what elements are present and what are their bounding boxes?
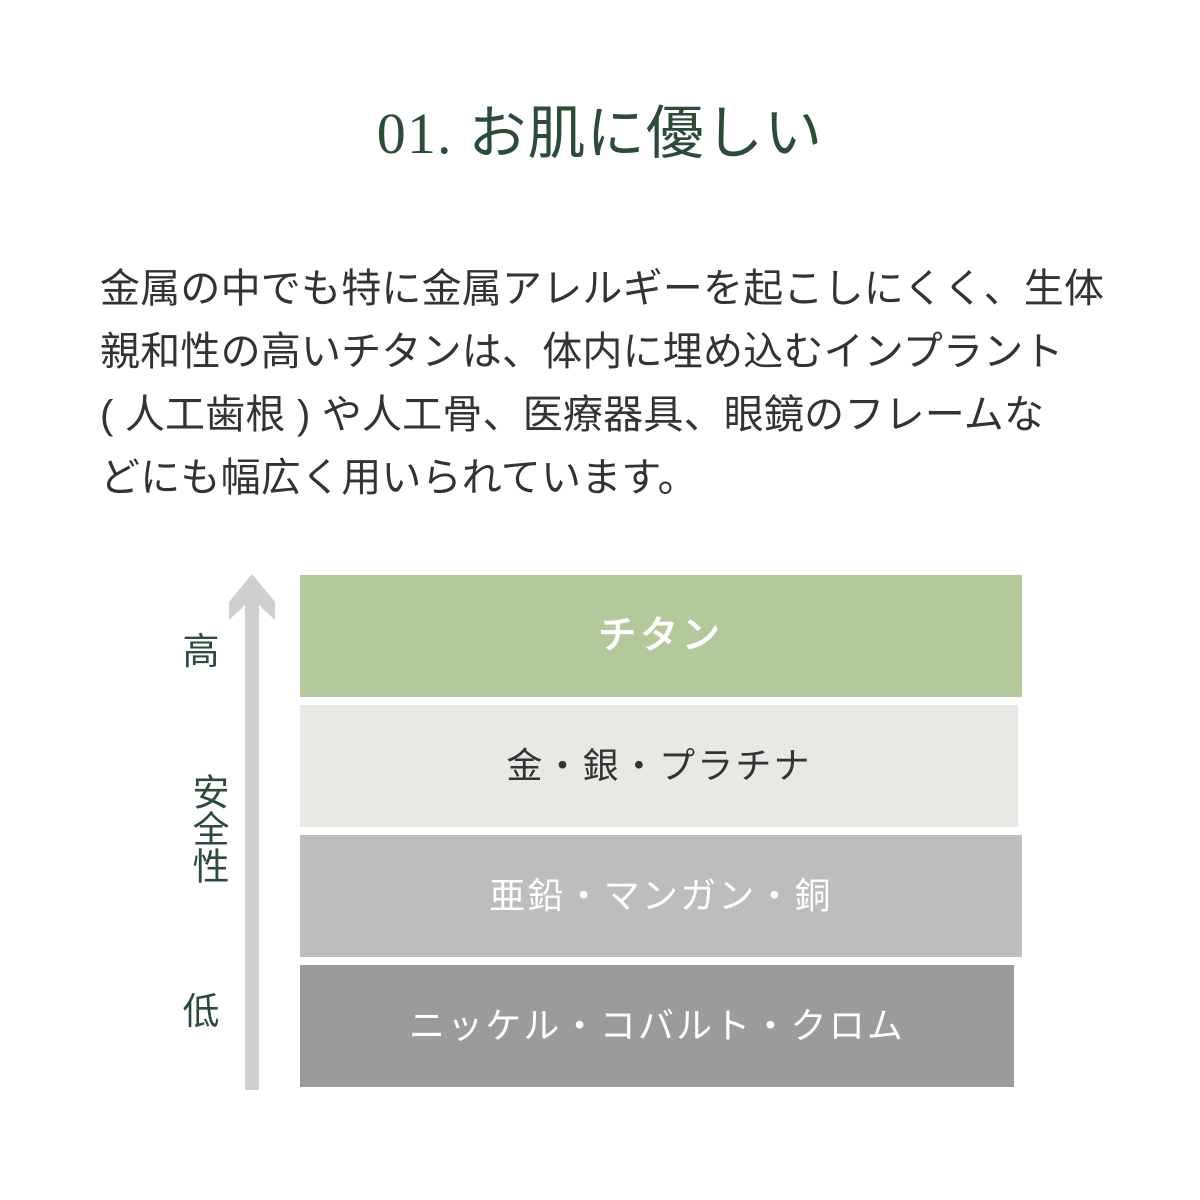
chart-bar-nickel-cobalt-chrome: ニッケル・コバルト・クロム	[300, 965, 1014, 1087]
body-line: 金属の中でも特に金属アレルギーを起こしにくく、生体	[100, 258, 1110, 321]
chart-bar-titanium: チタン	[300, 575, 1022, 697]
up-arrow-icon	[228, 572, 276, 1092]
axis-label-name: 安全性	[172, 751, 230, 906]
body-line: 親和性の高いチタンは、体内に埋め込むインプラント	[100, 321, 1110, 384]
chart-bar-zinc-manganese-copper: 亜鉛・マンガン・銅	[300, 835, 1022, 957]
body-line: どにも幅広く用いられています。	[100, 447, 1110, 510]
page-title: 01. お肌に優しい	[0, 96, 1200, 172]
body-paragraph: 金属の中でも特に金属アレルギーを起こしにくく、生体 親和性の高いチタンは、体内に…	[100, 258, 1110, 510]
axis-label-low: 低	[172, 991, 230, 1035]
chart-bar-label: 亜鉛・マンガン・銅	[489, 874, 832, 918]
chart-bar-label: ニッケル・コバルト・クロム	[409, 1004, 905, 1048]
chart-bar-label: チタン	[598, 614, 723, 658]
axis-label-high: 高	[172, 631, 230, 675]
safety-ranking-chart: 高 安全性 低 チタン 金・銀・プラチナ 亜鉛・マンガン・銅 ニッケル・コバルト…	[0, 568, 1200, 1098]
chart-bar-gold-silver-platinum: 金・銀・プラチナ	[300, 705, 1018, 827]
chart-bar-label: 金・銀・プラチナ	[506, 744, 811, 788]
body-line: ( 人工歯根 ) や人工骨、医療器具、眼鏡のフレームな	[100, 384, 1110, 447]
